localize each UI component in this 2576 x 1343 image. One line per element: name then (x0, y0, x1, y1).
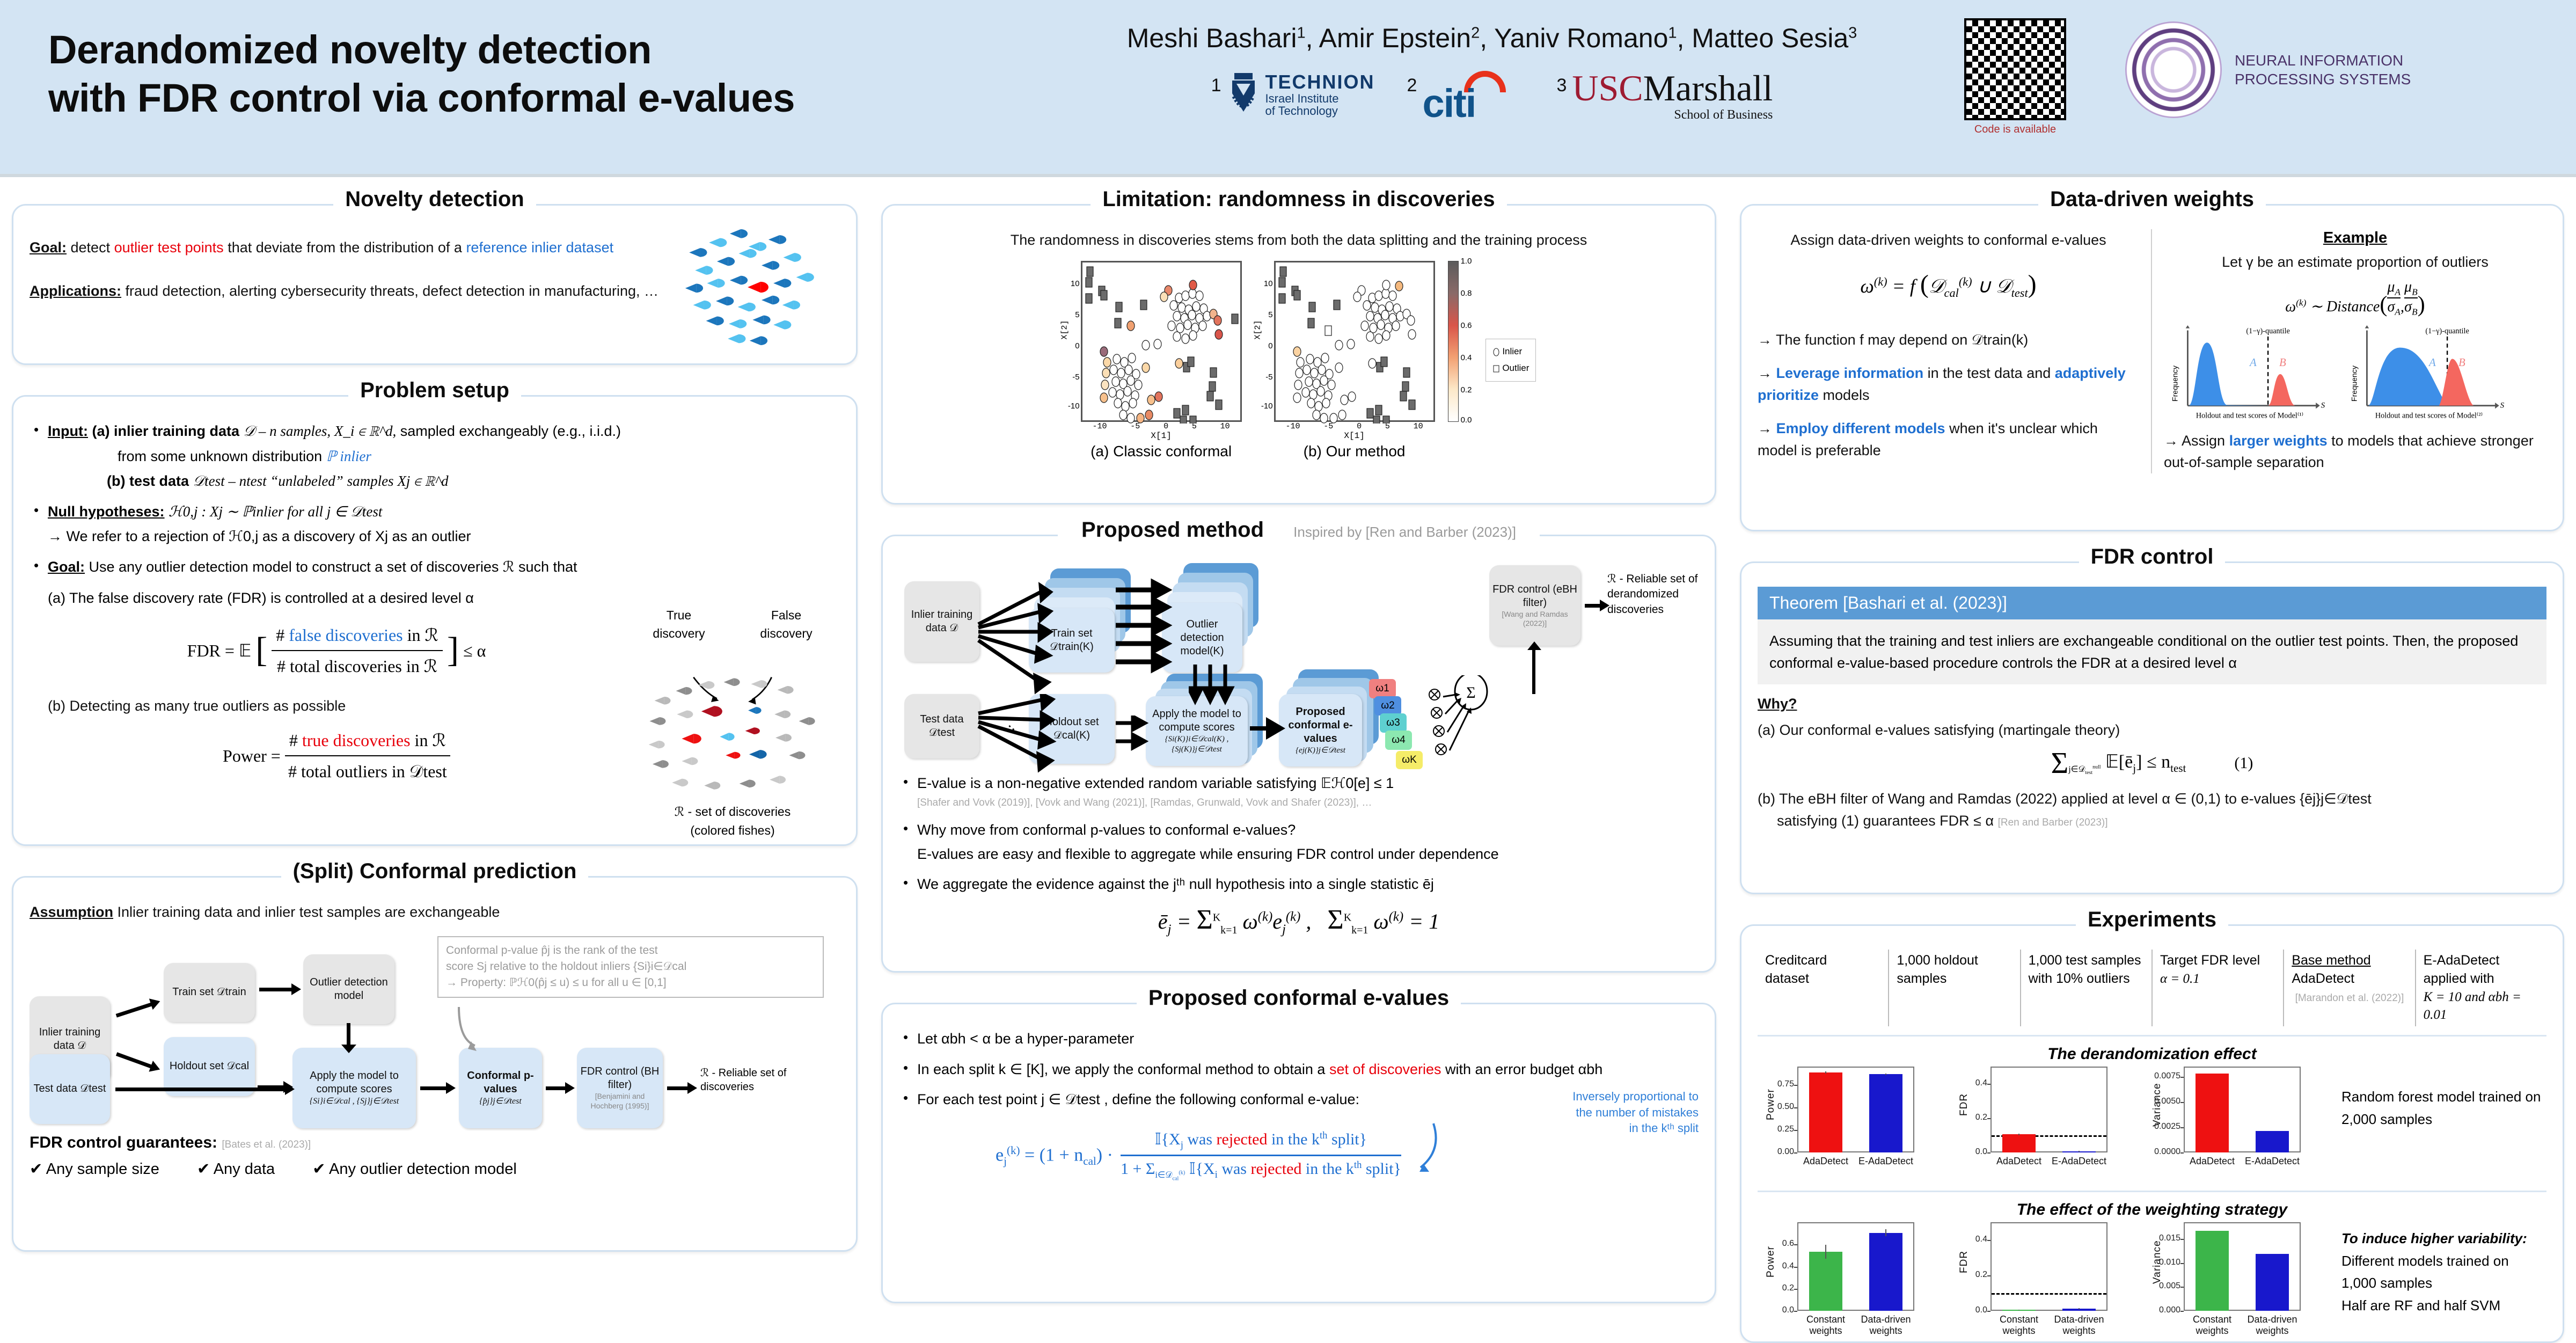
fdr-a-line: (a) Our conformal e-values satisfying (m… (1758, 719, 2546, 741)
m-node-apply-model-label: Apply the model to compute scores (1149, 707, 1245, 734)
exp-cell-2-line2: with 10% outliers (2029, 970, 2144, 988)
evalues-annot-3: in the kᵗʰ split (1538, 1120, 1699, 1136)
theorem-body: Assuming that the training and test inli… (1758, 619, 2546, 684)
evalues-b2-post: with an error budget αbh (1441, 1061, 1603, 1077)
y-tick-2: 0.4 (1975, 1078, 1987, 1088)
poster-header: Derandomized novelty detection with FDR … (0, 0, 2576, 177)
category-label-0: Constant weights (2183, 1314, 2242, 1337)
exp-cell-4: Base method AdaDetect [Marandon et al. (… (2284, 950, 2416, 1026)
power-equation: Power = # true discoveries in ℛ # total … (48, 727, 625, 784)
category-label-0: AdaDetect (2183, 1156, 2242, 1167)
weight-chip-k: ωK (1396, 751, 1423, 769)
m-node-apply-model-math: {Si(K)}i∈𝒟cal(K) , {Sj(K)}j∈𝒟test (1149, 734, 1245, 755)
m-node-fdr-control: FDR control (eBH filter) [Wang and Ramda… (1489, 565, 1580, 646)
exp-cell-4-line2: AdaDetect (2292, 970, 2407, 988)
check-item-0: ✔ Any sample size (30, 1159, 159, 1178)
poster-root: Derandomized novelty detection with FDR … (0, 0, 2576, 1288)
fish-true-label: Truediscovery (653, 606, 705, 643)
m-node-inlier-training: Inlier training data 𝒟 (904, 581, 979, 662)
problem-input-a-tail: sampled exchangeably (e.g., i.i.d.) (396, 423, 621, 439)
novelty-applications: Applications: fraud detection, alerting … (30, 280, 663, 302)
category-label-1: Data-driven weights (1856, 1314, 1915, 1337)
error-bar-1 (1885, 1229, 1886, 1236)
svg-text:Holdout and test scores of Mod: Holdout and test scores of Model⁽¹⁾ (2196, 411, 2303, 420)
weight-chip-1: ω1 (1369, 679, 1396, 698)
y-tick-mark-0 (1794, 1311, 1797, 1312)
weights-arrow-1: → The function f may depend on 𝒟train(k) (1758, 329, 2139, 351)
svg-text:Frequency: Frequency (2171, 365, 2179, 402)
plot-b-ytick-1: 5 (1268, 310, 1272, 319)
scatter-plot-b: X[2] 10 5 0 -5 -10 (1255, 261, 1435, 460)
technion-name: TECHNION (1265, 72, 1375, 92)
evalues-equation: ej(k) = (1 + ncal) · 𝕀{Xj was rejected i… (899, 1121, 1538, 1191)
limitation-colorbar-legend: 1.0 0.8 0.6 0.4 0.2 0.0 Inlier (1448, 261, 1536, 460)
y-tick-3: 0.0075 (2154, 1071, 2180, 1081)
bar-1 (2256, 1131, 2289, 1152)
plot-b-ytick-2: 0 (1268, 341, 1272, 351)
node-result-reliable-set: ℛ - Reliable set of discoveries (700, 1066, 824, 1094)
method-title: Proposed method (1070, 518, 1276, 542)
m-arrows-model-to-apply (1189, 665, 1253, 707)
chart-2-title: The effect of the weighting strategy (1758, 1201, 2546, 1219)
weights-right-panel: Example Let γ be an estimate proportion … (2152, 229, 2546, 473)
y-tick-mark-0 (1794, 1152, 1797, 1154)
density-plot-2-svg: Frequency S (1−γ)-quantile A (2343, 325, 2515, 422)
weight-label-4: ω4 (1392, 734, 1405, 746)
conformal-assumption-text: Inlier training data and inlier test sam… (113, 904, 500, 920)
bar-0 (1809, 1072, 1842, 1152)
weight-label-1: ω1 (1375, 683, 1389, 695)
m-arrow-sigma-to-fdr-head (1527, 641, 1541, 650)
y-tick-1: 0.005 (2159, 1281, 2180, 1291)
plot-b-xlabel: X[1] (1274, 431, 1435, 441)
colorbar-gradient (1448, 261, 1459, 422)
card-fdr-control: FDR control Theorem [Bashari et al. (202… (1740, 561, 2564, 894)
callout-line-3: → Property: ℙℋ0(p̂j ≤ u) ≤ u for all u ∈… (446, 975, 815, 991)
evalues-b1: Let αbh < α be a hyper-parameter (917, 1031, 1134, 1047)
method-bullet-text-3: We aggregate the evidence against the jᵗ… (917, 876, 1434, 892)
chart-group-2: Power0.00.20.40.6Constant weightsData-dr… (1758, 1222, 2546, 1343)
y-tick-mark-2 (1794, 1267, 1797, 1268)
svg-text:Frequency: Frequency (2350, 365, 2359, 402)
y-axis-label: Power (1765, 1089, 1777, 1120)
bar-0 (2002, 1134, 2036, 1152)
error-bar-1 (1885, 1074, 1886, 1075)
y-tick-mark-3 (2180, 1239, 2184, 1240)
plot-a-caption: (a) Classic conformal (1081, 443, 1242, 460)
y-tick-3: 0.75 (1777, 1079, 1794, 1089)
m-node-fdr-control-label: FDR control (eBH filter) (1492, 583, 1577, 610)
node-test-data-label: Test data 𝒟test (34, 1082, 106, 1096)
novelty-goal-label: Goal: (30, 239, 67, 256)
plot-b-caption: (b) Our method (1274, 443, 1435, 460)
evalues-annotation: Inversely proportional to the number of … (1538, 1089, 1699, 1136)
weight-label-k: ωK (1402, 754, 1417, 766)
method-bullet-text-0: E-value is a non-negative extended rando… (917, 775, 1394, 791)
error-bar-1 (2079, 1151, 2080, 1151)
m-node-result-label: ℛ - Reliable set of derandomized discove… (1607, 573, 1698, 616)
weights-concl-blue: larger weights (2229, 433, 2328, 449)
cbar-tick-2: 0.6 (1461, 321, 1472, 330)
cbar-tick-1: 0.8 (1461, 289, 1472, 298)
evalues-annot-2: the number of mistakes (1538, 1105, 1699, 1121)
category-label-1: Data-driven weights (2050, 1314, 2109, 1337)
affil-mark-2: 2 (1407, 70, 1417, 94)
m-node-fdr-control-ref: [Wang and Ramdas (2022)] (1492, 610, 1577, 629)
chart-group-1: Power0.000.250.500.75AdaDetectE-AdaDetec… (1758, 1067, 2546, 1182)
technion-sub-1: Israel Institute (1265, 92, 1375, 105)
plot-b-ytick-3: -5 (1265, 373, 1272, 382)
weights-arrow-3: → Employ different models when it's uncl… (1758, 418, 2139, 461)
exp-cell-1: 1,000 holdout samples (1889, 950, 2021, 1026)
check-label-0: Any sample size (46, 1160, 159, 1178)
bar-panel-2: Variance0.00000.00250.00500.0075AdaDetec… (2144, 1067, 2305, 1184)
exp-cell-4-ref: [Marandon et al. (2022)] (2292, 991, 2407, 1005)
check-icon: ✔ (197, 1160, 210, 1178)
qr-code-block[interactable]: Code is available (1964, 18, 2066, 136)
node-outlier-detection-model: Outlier detection model (303, 954, 394, 1024)
neurips-logo: NEURAL INFORMATION PROCESSING SYSTEMS (2125, 21, 2411, 118)
experiments-divider-1 (1758, 1035, 2546, 1037)
fdr-why-label: Why? (1758, 693, 2546, 715)
problem-goal-bullet: Goal: Use any outlier detection model to… (30, 556, 840, 840)
y-tick-mark-0 (2180, 1152, 2184, 1154)
problem-input-label: Input: (48, 423, 88, 439)
arrow-model-to-apply-head (341, 1045, 356, 1053)
y-axis-label: Power (1765, 1246, 1777, 1278)
m-arrow-apply-to-evalues (1248, 716, 1285, 742)
node-conformal-pvalues: Conformal p-values {p̂j}j∈𝒟test (459, 1048, 542, 1128)
exp-cell-5-line1: E-AdaDetect applied with (2424, 952, 2539, 988)
fish-gray-school-icon (625, 643, 840, 804)
y-tick-mark-1 (2180, 1287, 2184, 1288)
y-tick-mark-1 (1794, 1289, 1797, 1290)
plot-b-ytick-4: -10 (1261, 402, 1273, 411)
arrow-apply-to-pvalues (420, 1086, 447, 1090)
problem-input-a-dist: ℙ inlier (326, 448, 371, 464)
plot-b-ylabel: X[2] (1253, 320, 1262, 339)
weights-arrow-2-rest2: models (1819, 387, 1870, 403)
category-label-1: E-AdaDetect (2050, 1156, 2109, 1167)
svg-text:A: A (2249, 355, 2257, 368)
y-tick-3: 0.015 (2159, 1233, 2180, 1243)
usc-name-black: Marshall (1643, 68, 1773, 108)
conformal-title: (Split) Conformal prediction (281, 859, 589, 883)
novelty-apps-text: fraud detection, alerting cybersecurity … (121, 283, 658, 299)
category-label-1: E-AdaDetect (2243, 1156, 2302, 1167)
limitation-plots: X[2] 10 5 0 -5 -10 (899, 261, 1699, 460)
problem-goal-b: (b) Detecting as many true outliers as p… (48, 695, 625, 717)
bar-panel-0: Power0.000.250.500.75AdaDetectE-AdaDetec… (1758, 1067, 1919, 1184)
fdr-b-line2-text: satisfying (1) guarantees FDR ≤ α (1777, 813, 1994, 829)
conformal-assumption: Assumption Inlier training data and inli… (30, 901, 840, 923)
y-axis-label: FDR (1958, 1093, 1970, 1116)
outlier-marker-icon (1492, 364, 1500, 373)
experiments-note-2: To induce higher variability: Different … (2341, 1222, 2545, 1317)
exp-cell-5: E-AdaDetect applied with K = 10 and αbh … (2416, 950, 2546, 1026)
card-split-conformal: (Split) Conformal prediction Assumption … (12, 876, 858, 1252)
problem-input-b-math: 𝒟test – ntest “unlabeled” samples Xj ∈ ℝ… (193, 473, 449, 489)
weight-chip-4: ω4 (1385, 731, 1412, 750)
method-flow-diagram: Inlier training data 𝒟 Test data 𝒟test T… (899, 560, 1699, 769)
y-tick-mark-0 (2180, 1311, 2184, 1312)
callout-line-1: Conformal p-value p̂j is the rank of the… (446, 943, 815, 959)
title-line-1: Derandomized novelty detection (48, 26, 1068, 74)
node-fdr-control-ref: [Benjamini and Hochberg (1995)] (580, 1092, 660, 1111)
node-conformal-pvalues-math: {p̂j}j∈𝒟test (479, 1096, 522, 1107)
svg-text:Holdout and test scores of Mod: Holdout and test scores of Model⁽²⁾ (2375, 411, 2483, 420)
fdr-a-equation: Σj∈𝒟testnull 𝔼[ēj] ≤ ntest (2051, 746, 2186, 780)
scatter-legend: Inlier Outlier (1485, 339, 1536, 381)
exp-cell-3: Target FDR level α = 0.1 (2153, 950, 2284, 1026)
problem-title: Problem setup (348, 378, 521, 402)
neurips-line-2: PROCESSING SYSTEMS (2235, 70, 2411, 89)
poster-title: Derandomized novelty detection with FDR … (48, 26, 1068, 123)
method-bullet-ref-0: [Shafer and Vovk (2019)], [Vovk and Wang… (917, 795, 1699, 811)
m-arrow-sigma-to-fdr-stem (1532, 646, 1535, 694)
svg-text:(1−γ)-quantile: (1−γ)-quantile (2246, 327, 2289, 335)
card-proposed-method: Proposed method Inspired by [Ren and Bar… (881, 535, 1716, 973)
m-node-evalues-math: {ej(K)}j∈𝒟test (1296, 746, 1345, 756)
density-plot-1-svg: Frequency S (1−γ)-quantile A (2164, 325, 2336, 422)
y-tick-0: 0.0 (1975, 1147, 1987, 1157)
neurips-line-1: NEURAL INFORMATION (2235, 51, 2411, 70)
problem-input-b: (b) test data (107, 473, 189, 489)
y-tick-2: 0.50 (1777, 1102, 1794, 1112)
y-tick-0: 0.000 (2159, 1305, 2180, 1315)
node-apply-model-math: {Si}i∈𝒟cal , {Sj}j∈𝒟test (310, 1096, 399, 1107)
plot-a-ytick-2: 0 (1075, 341, 1079, 351)
technion-sub-2: of Technology (1265, 105, 1375, 117)
node-train-set: Train set 𝒟train (164, 963, 255, 1022)
y-tick-mark-2 (1987, 1240, 1990, 1241)
logo-technion: 1 TECHNION Israel Institute of Technolog… (1211, 70, 1375, 119)
y-tick-2: 0.010 (2159, 1258, 2180, 1267)
power-eq-lhs: Power = (223, 743, 281, 769)
arrow-train (116, 1002, 153, 1017)
guarantee-label: FDR control guarantees: (30, 1134, 217, 1151)
author-list: Meshi Bashari1, Amir Epstein2, Yaniv Rom… (1036, 23, 1948, 54)
novelty-goal-mid: that deviate from the distribution of a (224, 239, 466, 256)
svg-text:(1−γ)-quantile: (1−γ)-quantile (2425, 327, 2469, 335)
limitation-subtitle: The randomness in discoveries stems from… (899, 229, 1699, 251)
m-node-result: ℛ - Reliable set of derandomized discove… (1607, 572, 1731, 617)
node-outlier-model-label: Outlier detection model (306, 976, 391, 1003)
problem-goal-text: Use any outlier detection model to const… (85, 559, 577, 575)
weights-arrow-2-rest: in the test data and (1923, 365, 2055, 381)
bar-panel-0: Power0.00.20.40.6Constant weightsData-dr… (1758, 1222, 1919, 1342)
node-conformal-pvalues-label: Conformal p-values (462, 1069, 539, 1096)
weights-example-title: Example (2164, 229, 2546, 247)
node-apply-model: Apply the model to compute scores {Si}i∈… (292, 1048, 416, 1128)
fdr-equation: FDR = 𝔼 [ # false discoveries in ℛ # tot… (48, 622, 625, 679)
card-experiments: Experiments Creditcard dataset 1,000 hol… (1740, 924, 2564, 1343)
m-node-proposed-evalues: Proposed conformal e-values {ej(K)}j∈𝒟te… (1279, 694, 1362, 767)
check-item-2: ✔ Any outlier detection model (312, 1159, 517, 1178)
affil-mark-3: 3 (1556, 70, 1567, 94)
method-aggregate-equation: ēj = ΣKk=1 ω(k)ej(k) , ΣKk=1 ω(k) = 1 (899, 904, 1699, 937)
node-apply-model-label: Apply the model to compute scores (296, 1069, 413, 1096)
density-plot-1: Frequency S (1−γ)-quantile A (2164, 325, 2336, 425)
qr-caption: Code is available (1964, 123, 2066, 136)
aggregation-operator-icon: Σ (1425, 675, 1489, 772)
y-tick-3: 0.6 (1782, 1239, 1794, 1249)
problem-input-a-line2: from some unknown distribution (118, 448, 322, 464)
svg-text:S: S (2500, 400, 2505, 410)
y-tick-mark-3 (1794, 1244, 1797, 1245)
m-node-inlier-training-label: Inlier training data 𝒟 (908, 608, 976, 635)
weights-concl-pre: → Assign (2164, 433, 2229, 449)
guarantee-ref: [Bates et al. (2023)] (222, 1139, 311, 1150)
method-bullet-3: We aggregate the evidence against the jᵗ… (899, 873, 1699, 895)
fdr-title: FDR control (2079, 545, 2226, 568)
experiments-note-2-line2: Different models trained on (2341, 1250, 2545, 1273)
qr-code-icon[interactable] (1964, 18, 2066, 120)
y-tick-2: 0.0050 (2154, 1097, 2180, 1106)
y-tick-mark-3 (2180, 1077, 2184, 1078)
bar-0 (2196, 1231, 2229, 1311)
node-fdr-control-label: FDR control (BH filter) (580, 1065, 660, 1092)
inlier-marker-icon (1492, 348, 1500, 356)
weights-example-line: Let γ be an estimate proportion of outli… (2164, 251, 2546, 273)
usc-subtitle: School of Business (1572, 108, 1773, 121)
exp-cell-3-line2: α = 0.1 (2160, 970, 2275, 988)
legend-label-inlier: Inlier (1502, 346, 1522, 356)
problem-input-bullet: Input: (a) inlier training data 𝒟 – n sa… (30, 420, 840, 492)
exp-cell-5-line2: K = 10 and αbh = 0.01 (2424, 988, 2539, 1025)
evalues-bullet-1: In each split k ∈ [K], we apply the conf… (899, 1059, 1699, 1081)
exp-cell-0-line1: Creditcard (1765, 952, 1880, 970)
problem-input-a: (a) inlier training data (92, 423, 239, 439)
y-tick-2: 0.4 (1782, 1261, 1794, 1271)
svg-text:A: A (2428, 355, 2436, 368)
weights-arrow-3-blue: Employ different models (1776, 420, 1945, 436)
plot-a-xlabel: X[1] (1081, 431, 1242, 441)
y-tick-mark-1 (1987, 1118, 1990, 1119)
plot-frame (1990, 1222, 2107, 1311)
y-tick-mark-0 (1987, 1152, 1990, 1154)
weight-label-3: ω3 (1386, 717, 1400, 729)
weights-density-plots: Frequency S (1−γ)-quantile A (2164, 325, 2546, 425)
chart-1-panels: Power0.000.250.500.75AdaDetectE-AdaDetec… (1758, 1067, 2337, 1182)
y-tick-mark-0 (1987, 1311, 1990, 1312)
method-bullet-text-1: Why move from conformal p-values to conf… (917, 822, 1296, 838)
plot-a-ytick-3: -5 (1072, 373, 1079, 382)
affiliation-logos: 1 TECHNION Israel Institute of Technolog… (1036, 70, 1948, 129)
novelty-goal-dataset: reference inlier dataset (466, 239, 613, 256)
card-limitation: Limitation: randomness in discoveries Th… (881, 204, 1716, 505)
fdr-equation-row: Σj∈𝒟testnull 𝔼[ēj] ≤ ntest (1) (1758, 746, 2546, 780)
bar-panel-1: FDR0.00.20.4Constant weightsData-driven … (1951, 1222, 2112, 1342)
card-conformal-evalues: Proposed conformal e-values Let αbh < α … (881, 1003, 1716, 1303)
y-tick-0: 0.0000 (2154, 1147, 2180, 1157)
method-bullet-0: E-value is a non-negative extended rando… (899, 772, 1699, 811)
method-title-sub: Inspired by [Ren and Barber (2023)] (1282, 524, 1528, 540)
bar-0 (2196, 1074, 2229, 1152)
problem-goal-label: Goal: (48, 559, 85, 575)
svg-text:S: S (2321, 400, 2325, 410)
node-result-label: ℛ - Reliable set of discoveries (700, 1067, 786, 1093)
y-axis-label: FDR (1958, 1250, 1970, 1273)
fdr-equation-number: (1) (2234, 754, 2253, 772)
experiments-note-1: Random forest model trained on 2,000 sam… (2341, 1067, 2545, 1130)
weights-title: Data-driven weights (2038, 187, 2266, 211)
card-problem-setup: Problem setup Input: (a) inlier training… (12, 395, 858, 846)
weight-chip-2: ω2 (1374, 696, 1401, 716)
y-tick-2: 0.4 (1975, 1235, 1987, 1244)
experiments-note-2-line4: Half are RF and half SVM (2341, 1295, 2545, 1317)
chart-1-title: The derandomization effect (1758, 1045, 2546, 1063)
weights-left-head: Assign data-driven weights to conformal … (1758, 229, 2139, 251)
scatter-plot-a: X[2] 10 5 0 -5 -10 (1062, 261, 1242, 460)
limitation-title: Limitation: randomness in discoveries (1091, 187, 1506, 211)
novelty-apps-label: Applications: (30, 283, 121, 299)
m-node-test-data-label: Test data 𝒟test (908, 713, 976, 740)
y-tick-mark-1 (1987, 1275, 1990, 1276)
m-node-outlier-model: Outlier detection model(K) (1162, 603, 1242, 673)
chart-2-panels: Power0.00.20.40.6Constant weightsData-dr… (1758, 1222, 2337, 1343)
weights-arrow-2: → Leverage information in the test data … (1758, 362, 2139, 406)
evalues-curved-arrow-icon (1409, 1121, 1441, 1191)
arrow-test-to-apply (115, 1087, 286, 1091)
cbar-tick-3: 0.4 (1461, 353, 1472, 362)
legend-item-inlier: Inlier (1492, 344, 1529, 360)
plot-a-ytick-1: 5 (1075, 310, 1079, 319)
logo-usc: 3 USCMarshall School of Business (1556, 70, 1773, 121)
cbar-tick-4: 0.2 (1461, 385, 1472, 395)
exp-cell-0-line2: dataset (1765, 970, 1880, 988)
weights-left-equation: ω(k) = f (𝒟cal(k) ∪ 𝒟test) (1758, 269, 2139, 300)
cbar-tick-0: 1.0 (1461, 257, 1472, 266)
svg-text:Σ: Σ (1466, 684, 1475, 702)
novelty-title: Novelty detection (333, 187, 536, 211)
exp-cell-0: Creditcard dataset (1758, 950, 1889, 1026)
problem-null-bullet: Null hypotheses: ℋ0,j : Xj ∼ ℙinlier for… (30, 501, 840, 548)
m-arrows-holdout-to-apply (1114, 716, 1151, 758)
fish-school-icon (668, 223, 829, 352)
y-tick-mark-2 (2180, 1102, 2184, 1103)
callout-line-2: score Sj relative to the holdout inliers… (446, 959, 815, 975)
fdr-eq-rhs: ≤ α (463, 638, 486, 663)
experiments-note-2-line3: 1,000 samples (2341, 1272, 2545, 1295)
error-bar-1 (2079, 1308, 2080, 1309)
method-bullet-1: Why move from conformal p-values to conf… (899, 819, 1699, 865)
conformal-checks: ✔ Any sample size ✔ Any data ✔ Any outli… (30, 1159, 840, 1178)
novelty-goal: Goal: detect outlier test points that de… (30, 237, 663, 259)
citi-name: citi (1422, 84, 1475, 123)
logo-citi: 2 citi (1407, 70, 1525, 129)
y-tick-mark-2 (1794, 1107, 1797, 1108)
evalues-b2-highlight: set of discoveries (1329, 1061, 1441, 1077)
novelty-goal-pre: detect (67, 239, 114, 256)
column-middle: Limitation: randomness in discoveries Th… (869, 180, 1728, 1288)
target-fdr-line (1992, 1293, 2106, 1295)
exp-cell-1-line2: samples (1897, 970, 2012, 988)
category-label-1: E-AdaDetect (1856, 1156, 1915, 1167)
fish-caption-1: ℛ - set of discoveries (625, 802, 840, 821)
fdr-eq-lhs: FDR = 𝔼 (187, 638, 252, 663)
plot-a-ytick-4: -10 (1068, 402, 1080, 411)
title-line-2: with FDR control via conformal e-values (48, 74, 1068, 122)
experiments-title: Experiments (2076, 908, 2228, 931)
y-tick-0: 0.0 (1782, 1305, 1794, 1315)
novelty-goal-highlight: outlier test points (114, 239, 224, 256)
category-label-0: Constant weights (1796, 1314, 1855, 1337)
card-data-driven-weights: Data-driven weights Assign data-driven w… (1740, 204, 2564, 531)
bar-0 (1809, 1252, 1842, 1311)
theorem-header: Theorem [Bashari et al. (2023)] (1758, 587, 2546, 619)
plot-a-ytick-0: 10 (1071, 279, 1080, 288)
